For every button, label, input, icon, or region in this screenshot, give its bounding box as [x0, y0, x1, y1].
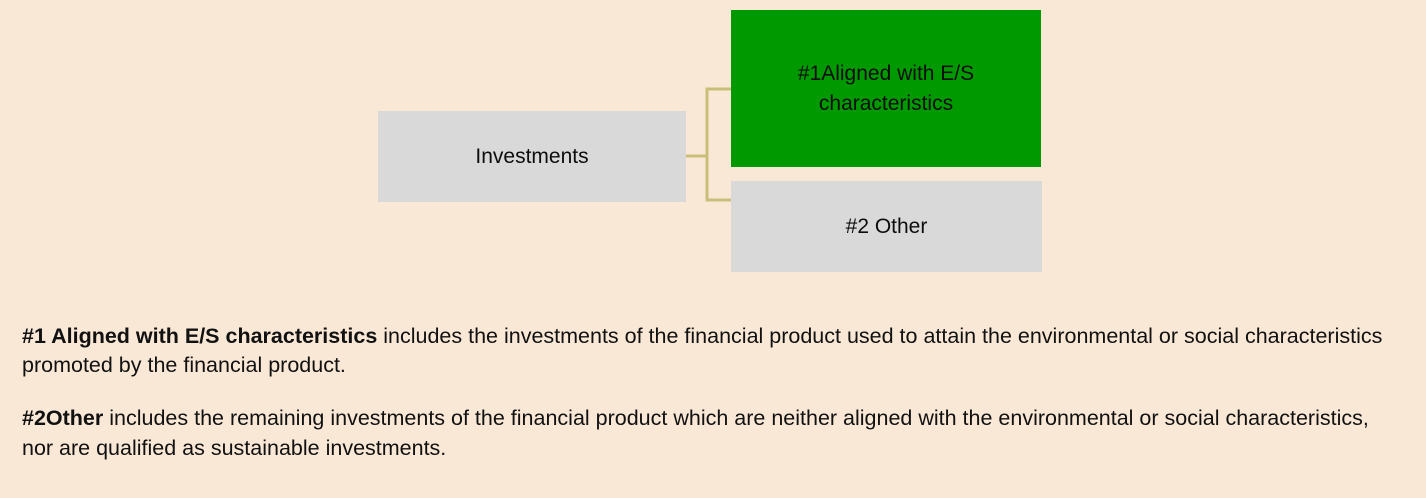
connector-to-aligned [686, 89, 731, 156]
page-root: Investments #1Aligned with E/S character… [0, 0, 1426, 498]
footnote-other-term: #2Other [22, 406, 103, 430]
node-other-label: #2 Other [846, 212, 928, 242]
node-investments: Investments [378, 111, 686, 202]
connector-to-other [686, 156, 731, 200]
footnote-aligned: #1 Aligned with E/S characteristics incl… [22, 322, 1404, 380]
node-investments-label: Investments [475, 142, 588, 172]
investments-breakdown-diagram: Investments #1Aligned with E/S character… [0, 0, 1426, 300]
footnote-aligned-term: #1 Aligned with E/S characteristics [22, 324, 377, 348]
connector-lines [0, 0, 1426, 300]
footnote-other-body: includes the remaining investments of th… [22, 406, 1369, 459]
footnote-other: #2Other includes the remaining investmen… [22, 404, 1404, 462]
node-aligned-label: #1Aligned with E/S characteristics [741, 59, 1031, 119]
node-other: #2 Other [731, 181, 1042, 272]
footnotes-section: #1 Aligned with E/S characteristics incl… [22, 322, 1404, 463]
node-aligned-with-es-characteristics: #1Aligned with E/S characteristics [731, 10, 1041, 167]
